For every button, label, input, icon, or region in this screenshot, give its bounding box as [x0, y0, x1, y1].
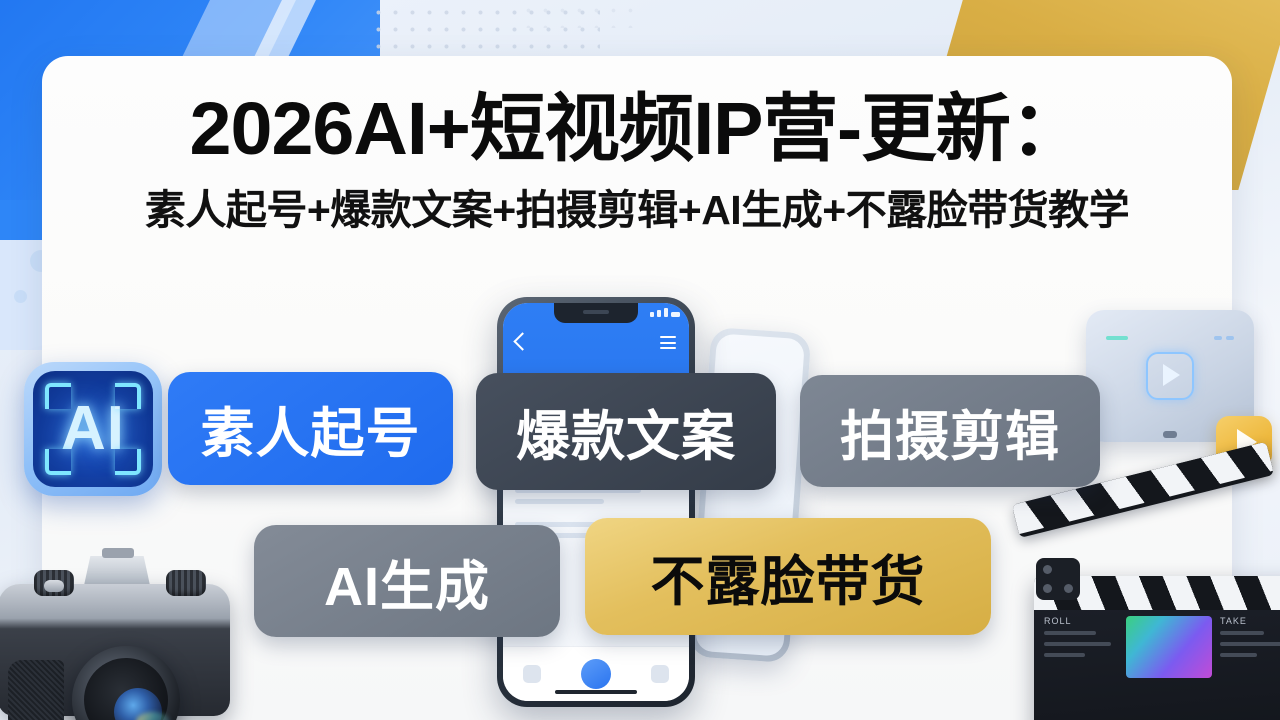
film-clapperboard-illustration: ROLL TAKE	[1012, 500, 1280, 720]
camera-grip	[8, 660, 64, 720]
ai-scan-icon: AI	[24, 362, 162, 496]
clapperboard-hinge	[1036, 558, 1080, 600]
promo-poster: 2026AI+短视频IP营-更新： 素人起号+爆款文案+拍摄剪辑+AI生成+不露…	[0, 0, 1280, 720]
tag-ai-shengcheng[interactable]: AI生成	[254, 525, 560, 637]
phone-screen	[503, 303, 689, 701]
smartphone-mockup	[497, 297, 695, 707]
camera-hotshoe	[102, 548, 134, 558]
chevron-left-icon[interactable]	[513, 332, 531, 350]
monitor-screen	[1097, 328, 1243, 424]
scan-corner-bottom-right-icon	[115, 449, 141, 475]
clapperboard-field-take: TAKE	[1220, 616, 1280, 678]
home-indicator	[555, 690, 637, 694]
tab-icon-home[interactable]	[523, 665, 541, 683]
camera-shutter-button	[44, 580, 64, 592]
recording-indicator	[1106, 336, 1128, 340]
monitor-lens	[1163, 431, 1177, 438]
camera-lens	[72, 646, 180, 720]
scan-corner-top-right-icon	[115, 383, 141, 409]
status-bar-icons	[650, 308, 680, 317]
tag-baokuan-wenan[interactable]: 爆款文案	[476, 373, 776, 490]
camera-lens-glass	[114, 688, 162, 720]
monitor-status-icons	[1214, 336, 1234, 340]
tab-icon-create[interactable]	[581, 659, 611, 689]
tag-buluolian-daihuo[interactable]: 不露脸带货	[585, 518, 991, 635]
hamburger-menu-icon[interactable]	[660, 336, 676, 353]
clapperboard-field-roll: ROLL	[1044, 616, 1118, 678]
tag-paishe-jianji[interactable]: 拍摄剪辑	[800, 375, 1100, 487]
phone-notch	[554, 303, 638, 323]
camera-dial-right	[166, 570, 206, 596]
scan-corner-top-left-icon	[45, 383, 71, 409]
camera-body	[0, 584, 230, 716]
tab-icon-profile[interactable]	[651, 665, 669, 683]
clapperboard-field-label: ROLL	[1044, 616, 1118, 626]
camera-lens-glare	[136, 712, 170, 720]
scan-corner-bottom-left-icon	[45, 449, 71, 475]
camera-lens-ring	[84, 658, 168, 720]
tag-suren-qihao[interactable]: 素人起号	[168, 372, 453, 485]
bokeh-dot	[14, 290, 27, 303]
earpiece-speaker	[583, 310, 609, 314]
dslr-camera-illustration	[0, 540, 242, 720]
ai-icon-inner: AI	[33, 371, 153, 487]
clapperboard-preview-screen	[1126, 616, 1212, 678]
play-icon	[1146, 352, 1194, 400]
clapperboard-field-label: TAKE	[1220, 616, 1280, 626]
clapperboard-fields: ROLL TAKE	[1044, 616, 1280, 678]
dot-grid-pattern-secondary	[520, 2, 640, 28]
